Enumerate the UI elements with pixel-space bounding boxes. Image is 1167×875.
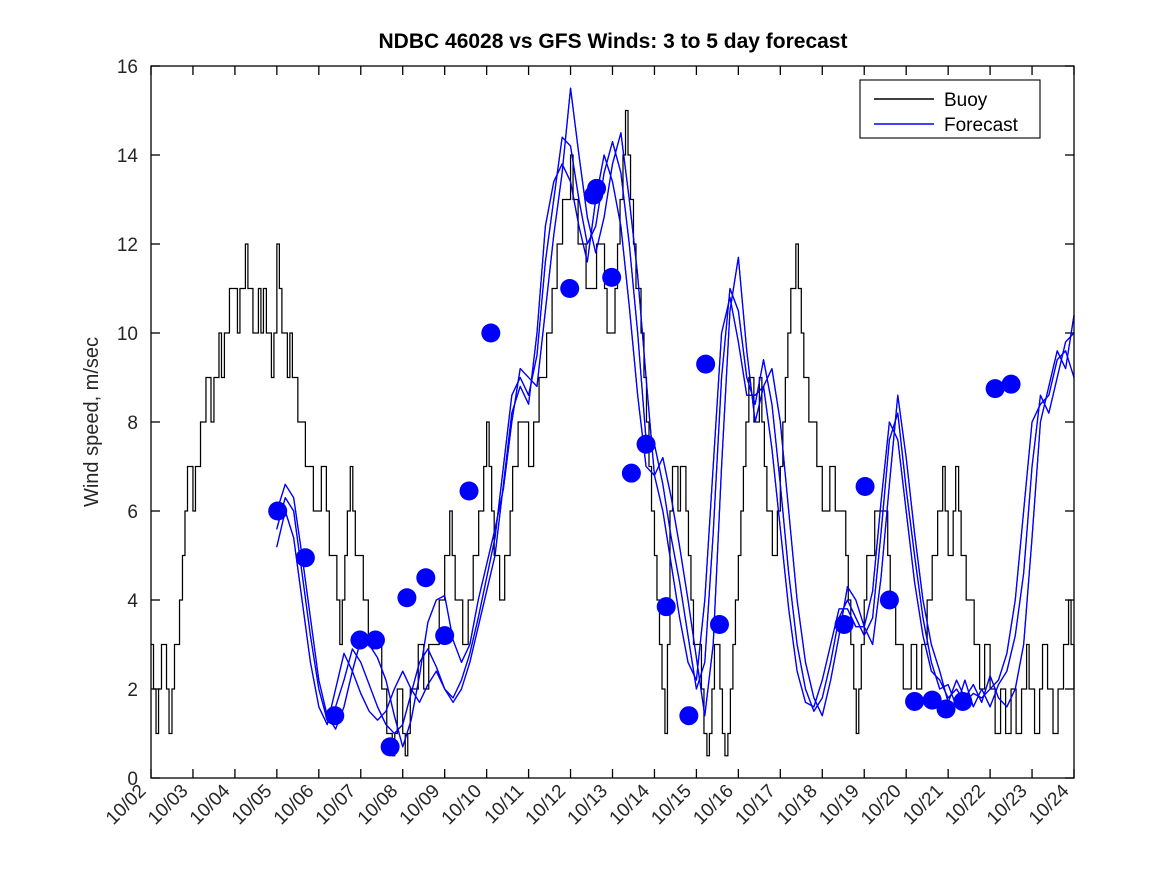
forecast-marker-dot [986,379,1005,398]
forecast-marker-dot [679,706,698,725]
forecast-marker-dot [937,700,956,719]
chart-title: NDBC 46028 vs GFS Winds: 3 to 5 day fore… [379,30,848,53]
forecast-marker-dot [416,568,435,587]
forecast-marker-dot [622,464,641,483]
y-tick-label: 8 [127,413,138,434]
legend-label-buoy: Buoy [944,90,988,111]
forecast-marker-dot [481,324,500,343]
y-tick-label: 16 [117,57,138,78]
y-tick-label: 2 [127,680,138,701]
forecast-marker-dot [460,481,479,500]
y-tick-label: 4 [127,591,138,612]
forecast-marker-dot [381,737,400,756]
forecast-marker-dot [602,268,621,287]
y-tick-label: 12 [117,235,138,256]
forecast-marker-dot [435,626,454,645]
forecast-marker-dot [696,355,715,374]
forecast-marker-dot [953,692,972,711]
forecast-marker-dot [1002,375,1021,394]
forecast-marker-dot [397,588,416,607]
forecast-marker-dot [560,279,579,298]
forecast-marker-dot [905,692,924,711]
wind-speed-chart: NDBC 46028 vs GFS Winds: 3 to 5 day fore… [0,0,1167,875]
forecast-marker-dot [657,597,676,616]
forecast-marker-dot [880,591,899,610]
forecast-marker-dot [587,179,606,198]
forecast-marker-dot [710,615,729,634]
forecast-marker-dot [637,435,656,454]
legend-label-forecast: Forecast [944,115,1019,136]
chart-legend: Buoy Forecast [860,80,1040,138]
chart-figure: NDBC 46028 vs GFS Winds: 3 to 5 day fore… [0,0,1167,875]
y-tick-label: 10 [117,324,138,345]
forecast-marker-dot [296,548,315,567]
forecast-marker-dot [366,631,385,650]
y-axis-label: Wind speed, m/sec [81,337,103,507]
forecast-marker-dot [856,477,875,496]
forecast-marker-dot [325,706,344,725]
y-tick-label: 14 [117,146,139,167]
forecast-marker-dot [835,615,854,634]
forecast-marker-dot [268,502,287,521]
y-tick-label: 6 [127,502,138,523]
